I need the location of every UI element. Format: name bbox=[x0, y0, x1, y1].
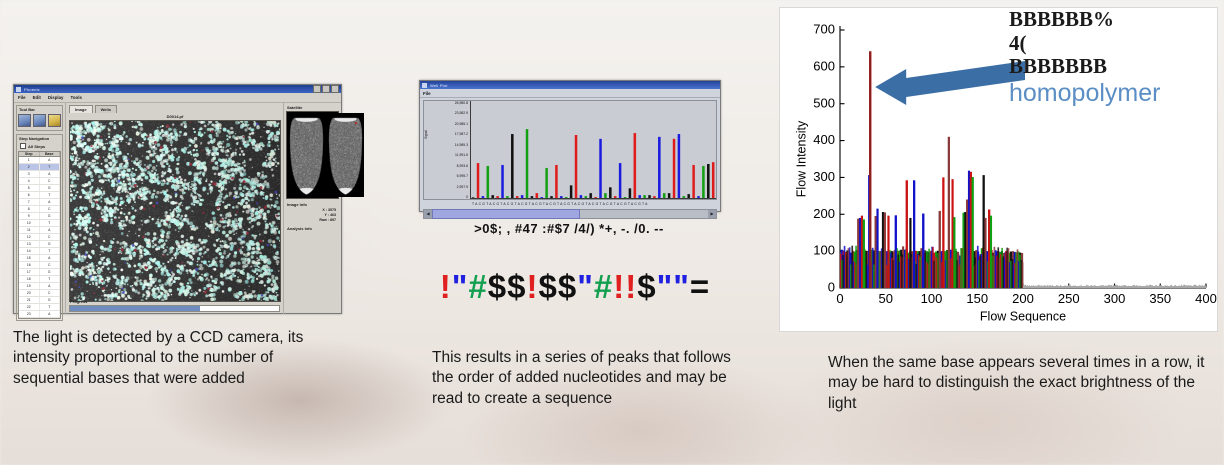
table-cell: 2 bbox=[19, 164, 40, 170]
ccd-imager-window[interactable]: Phoenix File Edit Display Tools Tool Bar bbox=[13, 84, 342, 314]
table-row[interactable]: 20C bbox=[19, 290, 60, 297]
table-cell: C bbox=[40, 262, 61, 268]
ccd-image-canvas[interactable] bbox=[70, 121, 280, 301]
table-cell: 4 bbox=[19, 178, 40, 184]
table-row[interactable]: 12C bbox=[19, 234, 60, 241]
left-sidebar[interactable]: Tool Bar Step Navigation All Steps bbox=[14, 103, 66, 314]
table-row[interactable]: 1A bbox=[19, 157, 60, 164]
mid-menubar[interactable]: File bbox=[420, 89, 720, 98]
table-cell: A bbox=[40, 227, 61, 233]
table-row[interactable]: 4C bbox=[19, 178, 60, 185]
table-cell: 3 bbox=[19, 171, 40, 177]
table-cell: 9 bbox=[19, 213, 40, 219]
table-cell: 6 bbox=[19, 192, 40, 198]
annotation-line-1: BBBBBB% bbox=[1009, 8, 1219, 32]
image-info-label: Image Info bbox=[287, 202, 339, 207]
satellite-pane: Satellite Image Info X : 3575 Y : 463 Ra… bbox=[283, 103, 341, 314]
table-cell: A bbox=[40, 283, 61, 289]
well-plot-window[interactable]: Well Plot File Signal 26,980.823,982.920… bbox=[419, 80, 721, 212]
table-row[interactable]: 5G bbox=[19, 185, 60, 192]
progress-bar bbox=[69, 305, 280, 312]
close-icon[interactable] bbox=[331, 85, 339, 93]
satellite-label: Satellite bbox=[287, 105, 339, 110]
table-row[interactable]: 7A bbox=[19, 199, 60, 206]
menu-item-file[interactable]: File bbox=[423, 91, 431, 96]
table-row[interactable]: 21G bbox=[19, 297, 60, 304]
table-row[interactable]: 10T bbox=[19, 220, 60, 227]
sequence-glyph: ! bbox=[613, 268, 625, 306]
sequence-glyph: $ bbox=[539, 268, 558, 306]
menu-item-tools[interactable]: Tools bbox=[71, 95, 82, 100]
caption-middle: This results in a series of peaks that f… bbox=[432, 348, 732, 409]
all-steps-checkbox[interactable]: All Steps bbox=[18, 142, 61, 151]
table-row[interactable]: 15A bbox=[19, 255, 60, 262]
left-window-titlebar[interactable]: Phoenix bbox=[14, 85, 341, 93]
signal-plot-y-axis: Signal 26,980.823,982.920,985.117,987.21… bbox=[424, 101, 470, 199]
table-cell: 8 bbox=[19, 206, 40, 212]
signal-plot-bars bbox=[470, 101, 716, 199]
ccd-image[interactable] bbox=[69, 120, 281, 302]
image-title: D0014.pf bbox=[69, 114, 281, 119]
sequence-glyph: " bbox=[657, 268, 674, 306]
annotation-line-3: BBBBBBB bbox=[1009, 55, 1219, 79]
sequence-glyph: " bbox=[673, 268, 690, 306]
y-tick-label: 8,993.6 bbox=[455, 164, 468, 168]
table-cell: 18 bbox=[19, 276, 40, 282]
colored-glyph-sequence: !"#$$!$$"#!!$""= bbox=[425, 268, 725, 306]
all-steps-label: All Steps bbox=[28, 144, 45, 149]
table-row[interactable]: 11A bbox=[19, 227, 60, 234]
progress-area: Progress bbox=[69, 299, 280, 312]
table-cell: 21 bbox=[19, 297, 40, 303]
window-controls[interactable] bbox=[313, 85, 339, 93]
table-cell: T bbox=[40, 192, 61, 198]
table-cell: G bbox=[40, 297, 61, 303]
menu-item-display[interactable]: Display bbox=[48, 95, 64, 100]
step-navigation-label: Step Navigation bbox=[19, 136, 61, 141]
y-tick-label: 26,980.8 bbox=[455, 101, 468, 105]
sequence-glyph: ! bbox=[440, 268, 452, 306]
progress-label: Progress bbox=[70, 299, 280, 304]
y-tick-label: 0 bbox=[455, 195, 468, 199]
sequence-glyph: ! bbox=[527, 268, 539, 306]
table-cell: C bbox=[40, 234, 61, 240]
y-tick-label: 2,997.9 bbox=[455, 185, 468, 189]
signal-plot: Signal 26,980.823,982.920,985.117,987.21… bbox=[423, 100, 717, 200]
table-cell: 16 bbox=[19, 262, 40, 268]
table-cell: 7 bbox=[19, 199, 40, 205]
tool-button-zoom[interactable] bbox=[33, 114, 46, 127]
annotation-homopolymer: homopolymer bbox=[1009, 79, 1219, 107]
table-cell: 17 bbox=[19, 269, 40, 275]
sequence-glyph: " bbox=[577, 268, 594, 306]
caption-left: The light is detected by a CCD camera, i… bbox=[13, 328, 343, 389]
table-cell: 12 bbox=[19, 234, 40, 240]
analysis-info-label: Analysis Info bbox=[287, 226, 339, 231]
left-menubar[interactable]: File Edit Display Tools bbox=[14, 93, 341, 103]
plot-app-icon bbox=[422, 83, 427, 88]
viewer-tabs[interactable]: Image Wells bbox=[69, 105, 281, 113]
table-cell: 14 bbox=[19, 248, 40, 254]
sequence-glyph: $ bbox=[507, 268, 526, 306]
sequence-glyph: ! bbox=[625, 268, 637, 306]
table-cell: C bbox=[40, 206, 61, 212]
mid-window-title: Well Plot bbox=[430, 83, 718, 88]
signal-plot-canvas bbox=[471, 101, 716, 198]
maximize-icon[interactable] bbox=[322, 85, 330, 93]
tool-button-measure[interactable] bbox=[48, 114, 61, 127]
table-cell: 15 bbox=[19, 255, 40, 261]
table-cell: 23 bbox=[19, 311, 40, 317]
menu-item-edit[interactable]: Edit bbox=[33, 95, 41, 100]
sequence-glyph: # bbox=[594, 268, 613, 306]
table-row[interactable]: 13G bbox=[19, 241, 60, 248]
table-cell: 13 bbox=[19, 241, 40, 247]
annotation-line-2: 4( bbox=[1009, 32, 1219, 56]
sequence-glyph: = bbox=[690, 268, 710, 306]
table-row[interactable]: 17G bbox=[19, 269, 60, 276]
step-navigation-group: Step Navigation All Steps Step Base 1A2T… bbox=[16, 134, 63, 321]
column-header-base: Base bbox=[40, 152, 61, 156]
menu-item-file[interactable]: File bbox=[18, 95, 26, 100]
table-cell: G bbox=[40, 213, 61, 219]
table-cell: C bbox=[40, 290, 61, 296]
image-viewer-pane[interactable]: Image Wells D0014.pf Progress bbox=[66, 103, 283, 314]
table-row[interactable]: 19A bbox=[19, 283, 60, 290]
toolbar-group: Tool Bar bbox=[16, 105, 63, 131]
y-tick-label: 5,995.7 bbox=[455, 174, 468, 178]
y-tick-label: 20,985.1 bbox=[455, 122, 468, 126]
image-info-raw: Raw : 897 bbox=[286, 218, 339, 223]
y-tick-label: 23,982.9 bbox=[455, 111, 468, 115]
table-cell: A bbox=[40, 157, 61, 163]
table-row[interactable]: 3A bbox=[19, 171, 60, 178]
table-cell: 10 bbox=[19, 220, 40, 226]
signal-plot-x-ticks: TACGTACGTACGTACGTACGTACGTACGTACGTACGTACG… bbox=[423, 200, 717, 208]
table-cell: G bbox=[40, 241, 61, 247]
table-row[interactable]: 2T bbox=[19, 164, 60, 171]
table-cell: T bbox=[40, 220, 61, 226]
table-row[interactable]: 23A bbox=[19, 311, 60, 318]
y-tick-label: 11,991.5 bbox=[455, 153, 468, 157]
table-row[interactable]: 16C bbox=[19, 262, 60, 269]
table-row[interactable]: 22T bbox=[19, 304, 60, 311]
column-header-step: Step bbox=[19, 152, 40, 156]
tool-button-select[interactable] bbox=[18, 114, 31, 127]
homopolymer-annotation: BBBBBB% 4( BBBBBBB homopolymer bbox=[1009, 8, 1219, 107]
table-row[interactable]: 9G bbox=[19, 213, 60, 220]
satellite-thumbnails[interactable] bbox=[286, 111, 339, 199]
caption-right: When the same base appears several times… bbox=[828, 353, 1218, 414]
sequence-glyph: $ bbox=[637, 268, 656, 306]
table-row[interactable]: 18T bbox=[19, 276, 60, 283]
table-cell: 20 bbox=[19, 290, 40, 296]
progress-fill bbox=[70, 306, 200, 311]
table-cell: 1 bbox=[19, 157, 40, 163]
signal-plot-hscrollbar[interactable]: ◀ ▶ bbox=[423, 209, 717, 219]
table-cell: T bbox=[40, 164, 61, 170]
tab-wells[interactable]: Wells bbox=[95, 105, 117, 113]
signal-plot-y-ticks: 26,980.823,982.920,985.117,987.214,989.3… bbox=[455, 101, 468, 199]
sequence-glyph: # bbox=[468, 268, 487, 306]
step-table[interactable]: Step Base 1A2T3A4C5G6T7A8C9G10T11A12C13G… bbox=[18, 151, 61, 319]
table-cell: C bbox=[40, 178, 61, 184]
checkbox-icon[interactable] bbox=[20, 143, 26, 149]
table-cell: T bbox=[40, 304, 61, 310]
table-cell: T bbox=[40, 248, 61, 254]
table-cell: 11 bbox=[19, 227, 40, 233]
table-cell: 5 bbox=[19, 185, 40, 191]
sequence-glyph: $ bbox=[558, 268, 577, 306]
table-row[interactable]: 14T bbox=[19, 248, 60, 255]
tab-image[interactable]: Image bbox=[69, 105, 93, 113]
table-cell: A bbox=[40, 255, 61, 261]
scroll-right-arrow-icon[interactable]: ▶ bbox=[708, 210, 716, 218]
signal-plot-y-label: Signal bbox=[424, 130, 428, 139]
table-cell: 19 bbox=[19, 283, 40, 289]
table-cell: T bbox=[40, 276, 61, 282]
scrollbar-thumb[interactable] bbox=[432, 209, 580, 219]
minimize-icon[interactable] bbox=[313, 85, 321, 93]
table-cell: G bbox=[40, 185, 61, 191]
table-cell: A bbox=[40, 311, 61, 317]
satellite-thumb-left[interactable] bbox=[288, 113, 325, 197]
garbled-sequence-caption: >0$; , #47 :#$7 /4/) *+, -. /0. -- bbox=[419, 221, 719, 236]
table-cell: G bbox=[40, 269, 61, 275]
table-row[interactable]: 8C bbox=[19, 206, 60, 213]
y-tick-label: 17,987.2 bbox=[455, 132, 468, 136]
scroll-left-arrow-icon[interactable]: ◀ bbox=[424, 210, 432, 218]
sequence-glyph: " bbox=[452, 268, 469, 306]
left-window-title: Phoenix bbox=[24, 87, 313, 92]
step-table-body[interactable]: 1A2T3A4C5G6T7A8C9G10T11A12C13G14T15A16C1… bbox=[19, 157, 60, 318]
mid-window-titlebar[interactable]: Well Plot bbox=[420, 81, 720, 89]
table-row[interactable]: 6T bbox=[19, 192, 60, 199]
app-icon bbox=[16, 87, 21, 92]
toolbar-group-label: Tool Bar bbox=[19, 107, 61, 112]
y-tick-label: 14,989.3 bbox=[455, 143, 468, 147]
satellite-thumb-right[interactable] bbox=[327, 113, 364, 197]
table-cell: 22 bbox=[19, 304, 40, 310]
table-cell: A bbox=[40, 171, 61, 177]
table-cell: A bbox=[40, 199, 61, 205]
sequence-glyph: $ bbox=[488, 268, 507, 306]
